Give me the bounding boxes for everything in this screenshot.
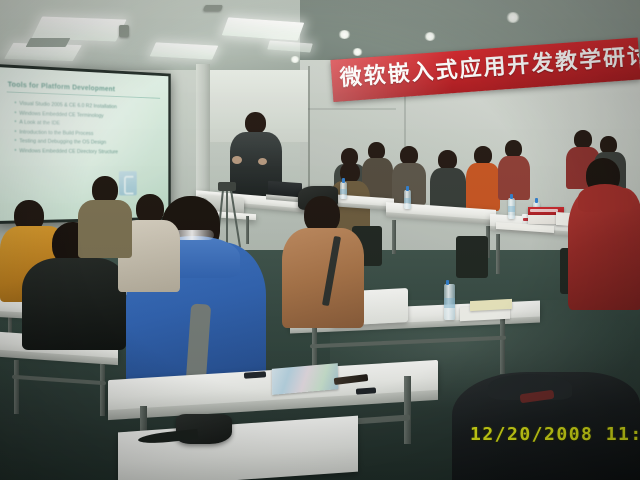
attendee bbox=[430, 150, 466, 212]
attendee bbox=[466, 146, 500, 208]
camera-timestamp: 12/20/2008 11:00 bbox=[470, 424, 640, 445]
ceiling-downlight bbox=[338, 30, 351, 39]
ceiling-downlight bbox=[352, 48, 363, 56]
attendee-body bbox=[282, 228, 364, 328]
attendee-body bbox=[22, 258, 126, 350]
ceiling-downlight bbox=[506, 12, 520, 23]
chair bbox=[456, 236, 488, 278]
attendee-body bbox=[498, 156, 530, 200]
bottle-label bbox=[508, 206, 515, 212]
presenter-head bbox=[245, 112, 266, 134]
ceiling-downlight bbox=[424, 32, 436, 41]
photograph: 微软嵌入式应用开发教学研讨会 Tools for Platform Develo… bbox=[0, 0, 640, 480]
attendee-body bbox=[466, 163, 500, 211]
attendee-tan-coat bbox=[282, 196, 364, 326]
table-leg bbox=[14, 360, 19, 414]
attendee-red-jacket bbox=[568, 158, 640, 308]
bottle-label bbox=[404, 198, 411, 203]
smoke-detector bbox=[119, 25, 129, 37]
attendee-head bbox=[438, 150, 457, 170]
ceiling-speaker bbox=[203, 5, 223, 11]
table-leg bbox=[392, 220, 396, 254]
bottle-label bbox=[340, 189, 347, 194]
bottle-label bbox=[444, 298, 455, 308]
presenter-hand bbox=[258, 158, 267, 165]
table-leg bbox=[500, 316, 505, 374]
water-bottle bbox=[404, 190, 411, 209]
attendee-body bbox=[78, 200, 132, 258]
attendee bbox=[78, 176, 132, 254]
table-leg bbox=[496, 234, 500, 274]
hood bbox=[578, 184, 632, 212]
water-bottle bbox=[444, 284, 455, 320]
water-bottle bbox=[508, 198, 515, 219]
table-leg bbox=[404, 376, 411, 444]
ceiling-vent bbox=[26, 38, 71, 47]
attendee bbox=[498, 140, 530, 198]
ceiling-downlight bbox=[290, 56, 300, 63]
tripod-head bbox=[218, 182, 236, 191]
table-leg bbox=[100, 364, 105, 416]
presenter-hand bbox=[232, 156, 242, 164]
